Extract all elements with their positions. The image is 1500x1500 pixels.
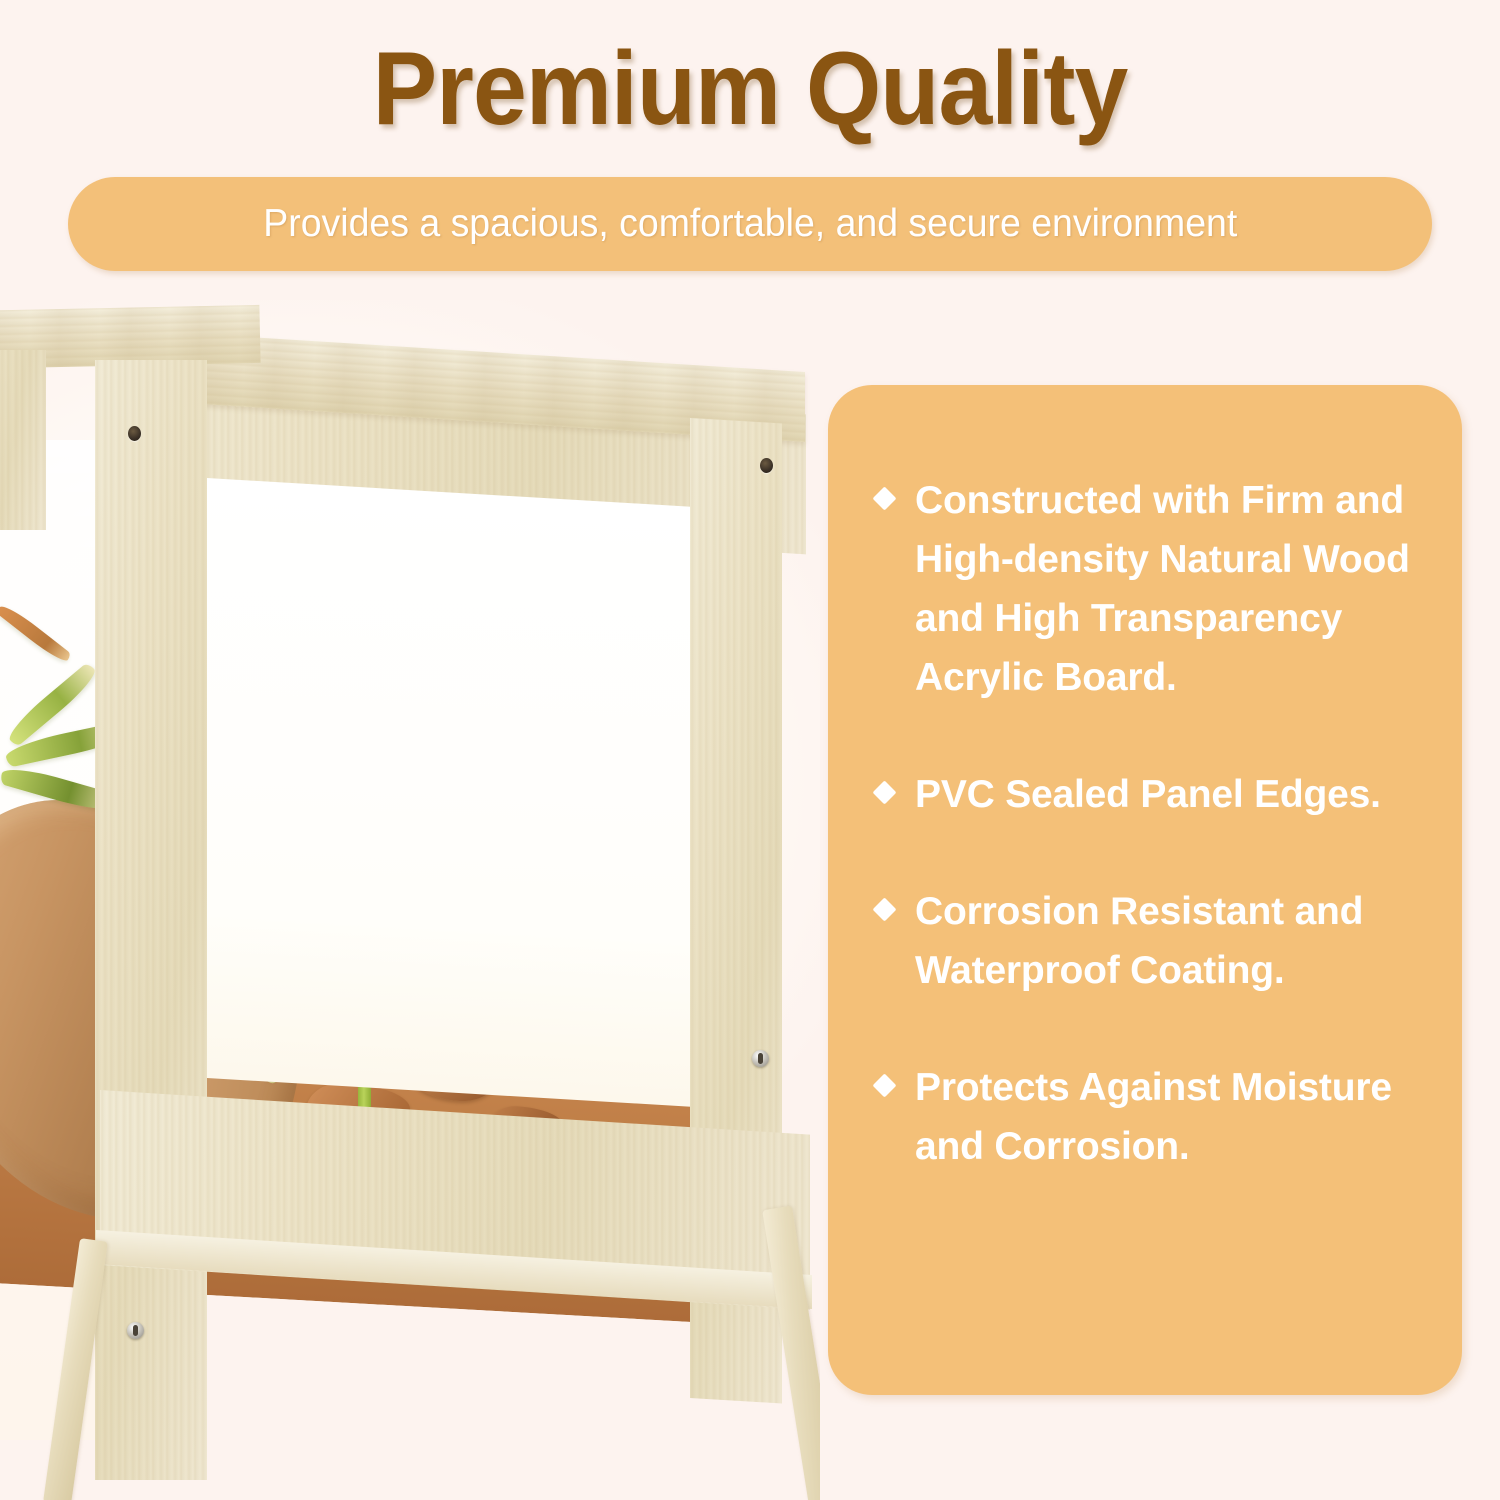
cabinet-left-stile bbox=[95, 360, 207, 1480]
subtitle-banner: Provides a spacious, comfortable, and se… bbox=[68, 177, 1432, 271]
feature-item: Constructed with Firm and High-density N… bbox=[876, 471, 1416, 707]
feature-text: Corrosion Resistant and Waterproof Coati… bbox=[915, 882, 1416, 1000]
diamond-bullet-icon bbox=[872, 1073, 896, 1097]
viewing-window-opening bbox=[207, 478, 695, 1107]
screw-hole-icon bbox=[760, 458, 773, 473]
page-title: Premium Quality bbox=[53, 34, 1448, 144]
feature-item: Corrosion Resistant and Waterproof Coati… bbox=[876, 882, 1416, 1000]
features-panel: Constructed with Firm and High-density N… bbox=[828, 385, 1462, 1395]
screw-icon bbox=[127, 1322, 144, 1339]
features-list: Constructed with Firm and High-density N… bbox=[828, 385, 1462, 1176]
screw-hole-icon bbox=[128, 426, 141, 441]
diamond-bullet-icon bbox=[872, 780, 896, 804]
feature-text: Constructed with Firm and High-density N… bbox=[915, 471, 1416, 707]
cabinet-back-post bbox=[0, 350, 46, 530]
feature-item: PVC Sealed Panel Edges. bbox=[876, 765, 1416, 824]
plant-leaf bbox=[0, 601, 72, 665]
screw-icon bbox=[752, 1050, 769, 1067]
diamond-bullet-icon bbox=[872, 897, 896, 921]
subtitle-text: Provides a spacious, comfortable, and se… bbox=[263, 202, 1237, 246]
feature-text: Protects Against Moisture and Corrosion. bbox=[915, 1058, 1416, 1176]
feature-text: PVC Sealed Panel Edges. bbox=[915, 765, 1381, 824]
diamond-bullet-icon bbox=[872, 486, 896, 510]
feature-item: Protects Against Moisture and Corrosion. bbox=[876, 1058, 1416, 1176]
product-photo bbox=[0, 300, 820, 1500]
